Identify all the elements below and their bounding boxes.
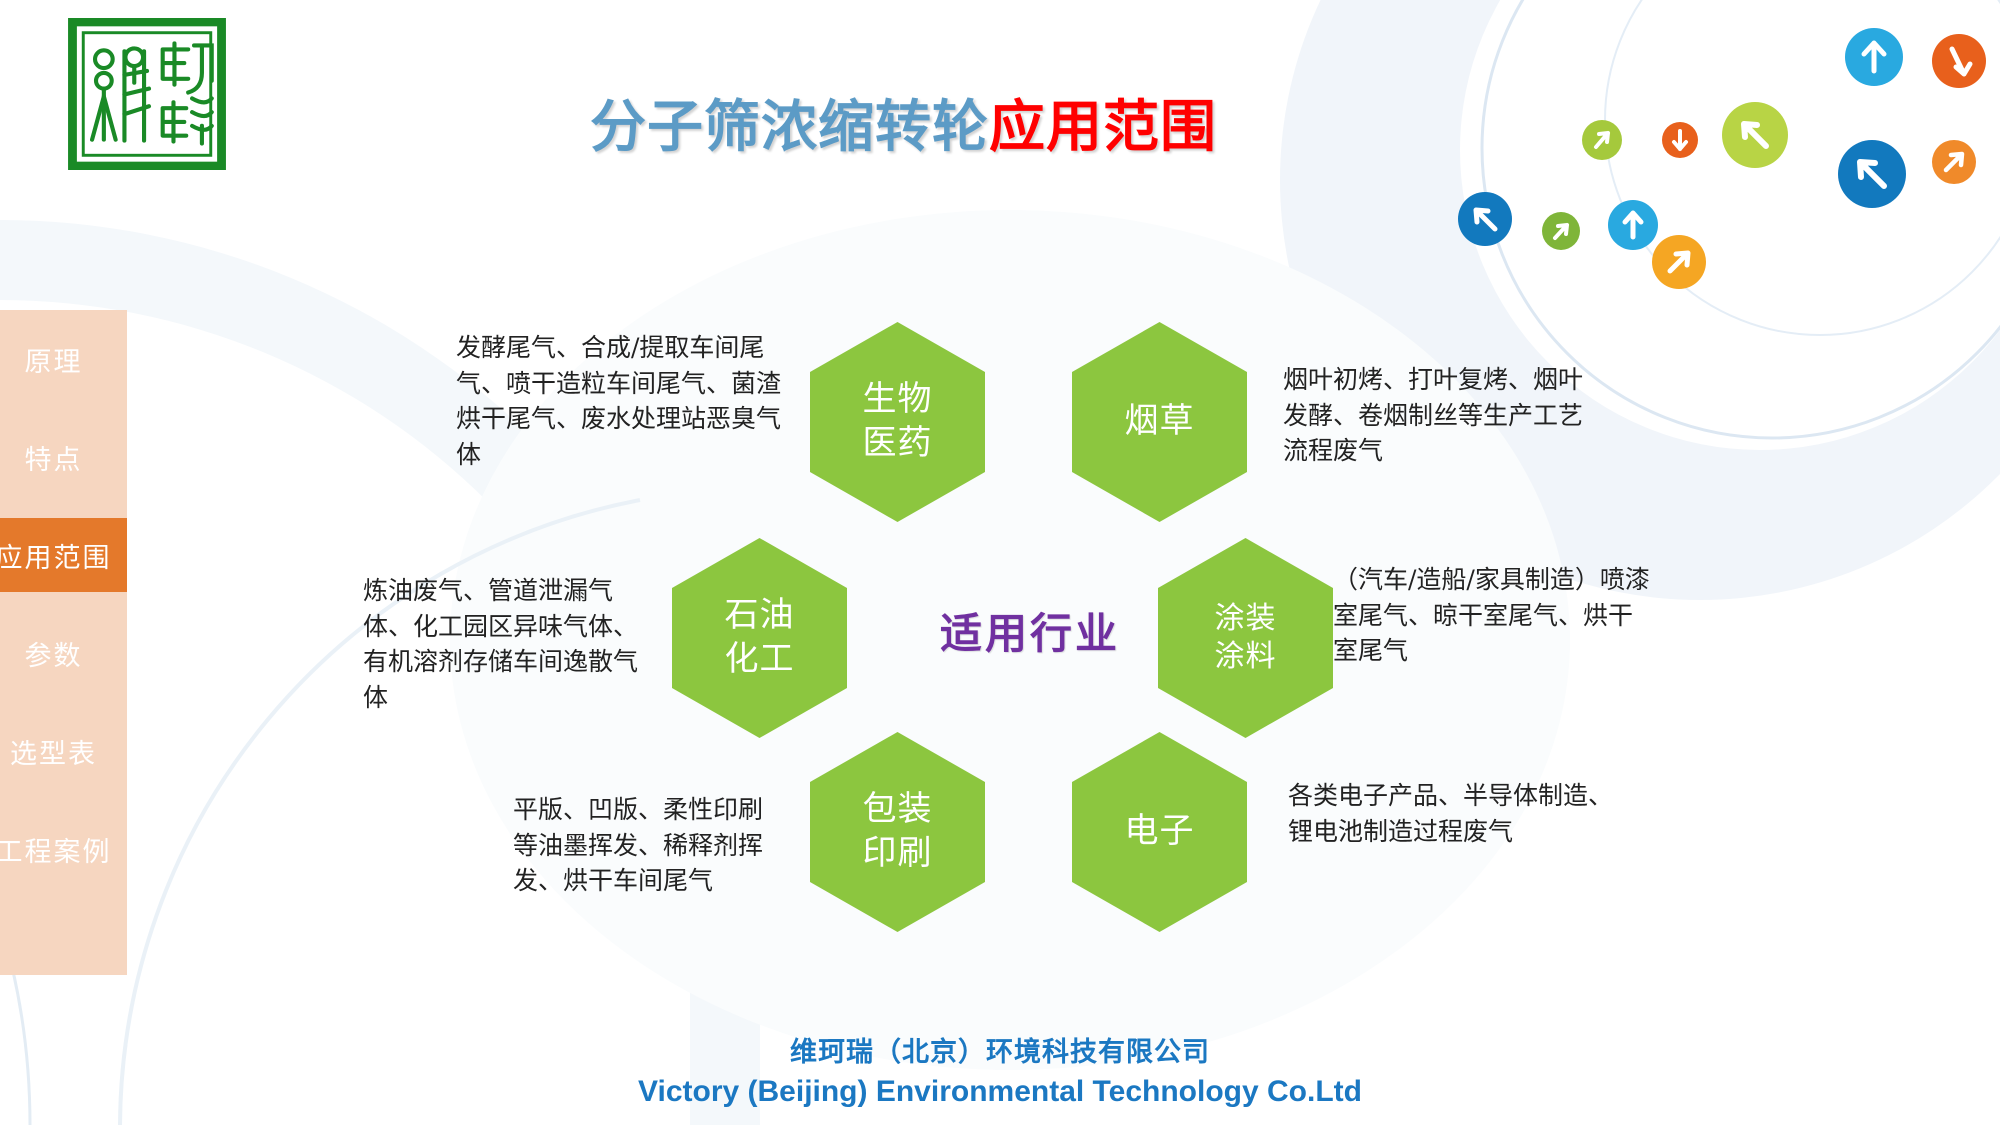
footer-company-en: Victory (Beijing) Environmental Technolo…	[0, 1075, 2000, 1109]
hexagon-label-line1: 石油	[725, 594, 795, 638]
slide-canvas: 分子筛浓缩转轮应用范围 原理 特点 应用范围 参数 选型表 工程案例	[0, 0, 2000, 1125]
hexagon-label-line2: 医药	[863, 422, 933, 466]
hexagon-label-line1: 包装	[863, 788, 933, 832]
footer-company-cn: 维珂瑞（北京）环境科技有限公司	[0, 1030, 2000, 1069]
arrow-up-icon-blue-small	[1608, 200, 1658, 255]
sidebar-item-label: 应用范围	[0, 536, 112, 575]
description-bio-pharma: 发酵尾气、合成/提取车间尾气、喷干造粒车间尾气、菌渣烘干尾气、废水处理站恶臭气体	[456, 330, 786, 472]
sidebar-item-application-scope[interactable]: 应用范围	[0, 518, 127, 592]
footer: 维珂瑞（北京）环境科技有限公司 Victory (Beijing) Enviro…	[0, 1030, 2000, 1109]
hexagon-petrochemical[interactable]: 石油 化工	[672, 538, 847, 738]
sidebar-item-label: 工程案例	[0, 830, 112, 869]
sidebar-item-label: 参数	[25, 634, 83, 673]
hexagon-label-line2: 涂料	[1215, 638, 1277, 676]
description-coating-paint: （汽车/造船/家具制造）喷漆室尾气、晾干室尾气、烘干室尾气	[1333, 562, 1653, 669]
background-decoration	[0, 0, 2000, 1125]
arrow-down-icon-orange	[1662, 122, 1698, 163]
arrow-up-right-icon-yellow	[1652, 235, 1706, 294]
arrow-up-right-icon-orange	[1932, 140, 1976, 189]
sidebar-item-parameters[interactable]: 参数	[0, 616, 127, 690]
arrow-up-left-icon-lightgreen	[1722, 102, 1788, 173]
hexagon-label-line2: 印刷	[863, 832, 933, 876]
hexagon-electronics[interactable]: 电子	[1072, 732, 1247, 932]
company-seal-logo	[68, 18, 226, 170]
hexagon-label-line1: 电子	[1125, 810, 1195, 854]
arrow-up-right-icon-green-small	[1542, 212, 1580, 255]
sidebar-item-selection-table[interactable]: 选型表	[0, 714, 127, 788]
sidebar-item-project-cases[interactable]: 工程案例	[0, 812, 127, 886]
page-title: 分子筛浓缩转轮应用范围	[590, 82, 1217, 163]
sidebar-item-label: 选型表	[10, 732, 97, 771]
hexagon-label-line1: 涂装	[1215, 600, 1277, 638]
hexagon-packaging-printing[interactable]: 包装 印刷	[810, 732, 985, 932]
page-title-highlight: 应用范围	[989, 95, 1217, 160]
description-electronics: 各类电子产品、半导体制造、锂电池制造过程废气	[1288, 778, 1618, 849]
sidebar-item-principle[interactable]: 原理	[0, 322, 127, 396]
arrow-down-right-icon-orange	[1932, 34, 1986, 93]
arrow-up-right-icon-green	[1582, 120, 1622, 165]
arrow-up-left-icon-blue	[1838, 140, 1906, 213]
hexagon-label-line1: 生物	[863, 378, 933, 422]
arrow-up-icon-blue	[1845, 28, 1903, 91]
hexagon-label-line1: 烟草	[1125, 400, 1195, 444]
center-label-applicable-industries: 适用行业	[900, 600, 1160, 661]
hexagon-bio-pharma[interactable]: 生物 医药	[810, 322, 985, 522]
description-petrochemical: 炼油废气、管道泄漏气体、化工园区异味气体、有机溶剂存储车间逸散气体	[363, 573, 658, 715]
sidebar-item-features[interactable]: 特点	[0, 420, 127, 494]
hexagon-tobacco[interactable]: 烟草	[1072, 322, 1247, 522]
sidebar-item-label: 原理	[25, 340, 83, 379]
sidebar-nav: 原理 特点 应用范围 参数 选型表 工程案例	[0, 310, 127, 975]
sidebar-item-label: 特点	[25, 438, 83, 477]
description-packaging-printing: 平版、凹版、柔性印刷等油墨挥发、稀释剂挥发、烘干车间尾气	[513, 792, 769, 899]
hexagon-label-line2: 化工	[725, 638, 795, 682]
description-tobacco: 烟叶初烤、打叶复烤、烟叶发酵、卷烟制丝等生产工艺流程废气	[1283, 362, 1583, 469]
page-title-primary: 分子筛浓缩转轮	[590, 95, 989, 160]
arrow-up-left-icon-blue-small	[1458, 192, 1512, 251]
hexagon-coating-paint[interactable]: 涂装 涂料	[1158, 538, 1333, 738]
